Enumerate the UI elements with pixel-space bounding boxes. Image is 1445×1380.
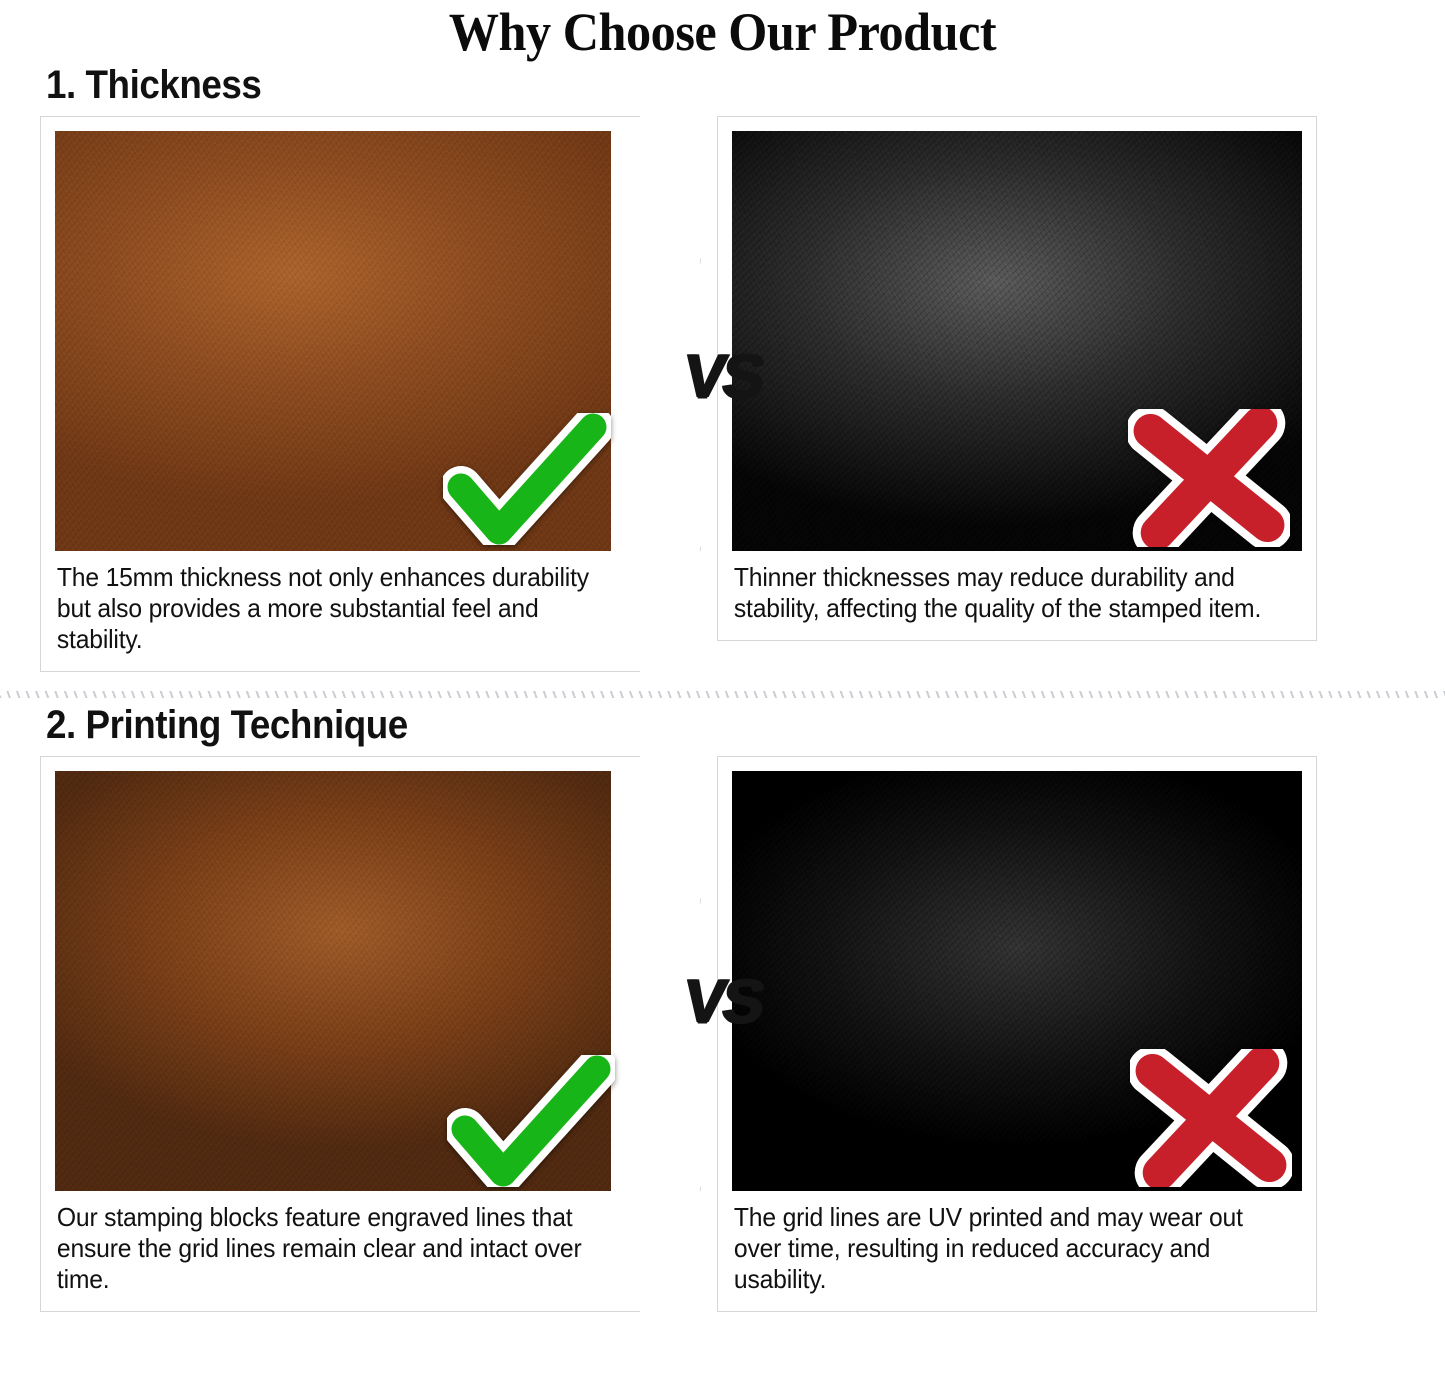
caption-bad-thickness: Thinner thicknesses may reduce durabilit… bbox=[732, 551, 1274, 626]
card-bad-thickness: Thinner thicknesses may reduce durabilit… bbox=[717, 116, 1317, 641]
section-printing-technique: 2. Printing Technique bbox=[0, 702, 1445, 1312]
photo-engraved-block: Sanfurney bbox=[55, 771, 625, 1191]
section-divider bbox=[0, 688, 1445, 698]
comparison-row-printing: Sanfurney Our stamping blocks feature en… bbox=[0, 756, 1445, 1312]
x-badge-icon bbox=[1128, 409, 1290, 547]
card-good-thickness: The 15mm thickness not only enhances dur… bbox=[40, 116, 640, 672]
card-bad-printing: The grid lines are UV printed and may we… bbox=[717, 756, 1317, 1312]
photo-hand-thin-block bbox=[732, 131, 1302, 551]
check-badge-icon bbox=[443, 413, 611, 545]
vs-label-printing: VS bbox=[680, 971, 765, 1033]
photo-uv-printed-block bbox=[732, 771, 1302, 1191]
section-heading-thickness: 1. Thickness bbox=[0, 62, 1329, 108]
photo-hand-thick-block bbox=[55, 131, 625, 551]
caption-bad-printing: The grid lines are UV printed and may we… bbox=[732, 1191, 1274, 1297]
comparison-row-thickness: The 15mm thickness not only enhances dur… bbox=[0, 116, 1445, 672]
card-good-printing: Sanfurney Our stamping blocks feature en… bbox=[40, 756, 640, 1312]
vs-label-thickness: VS bbox=[680, 346, 765, 408]
caption-good-printing: Our stamping blocks feature engraved lin… bbox=[55, 1191, 597, 1297]
caption-good-thickness: The 15mm thickness not only enhances dur… bbox=[55, 551, 597, 657]
page-title: Why Choose Our Product bbox=[51, 0, 1395, 62]
section-thickness: 1. Thickness bbox=[0, 62, 1445, 672]
section-heading-printing: 2. Printing Technique bbox=[0, 702, 1329, 748]
x-badge-icon bbox=[1130, 1049, 1292, 1187]
check-badge-icon bbox=[447, 1055, 615, 1187]
